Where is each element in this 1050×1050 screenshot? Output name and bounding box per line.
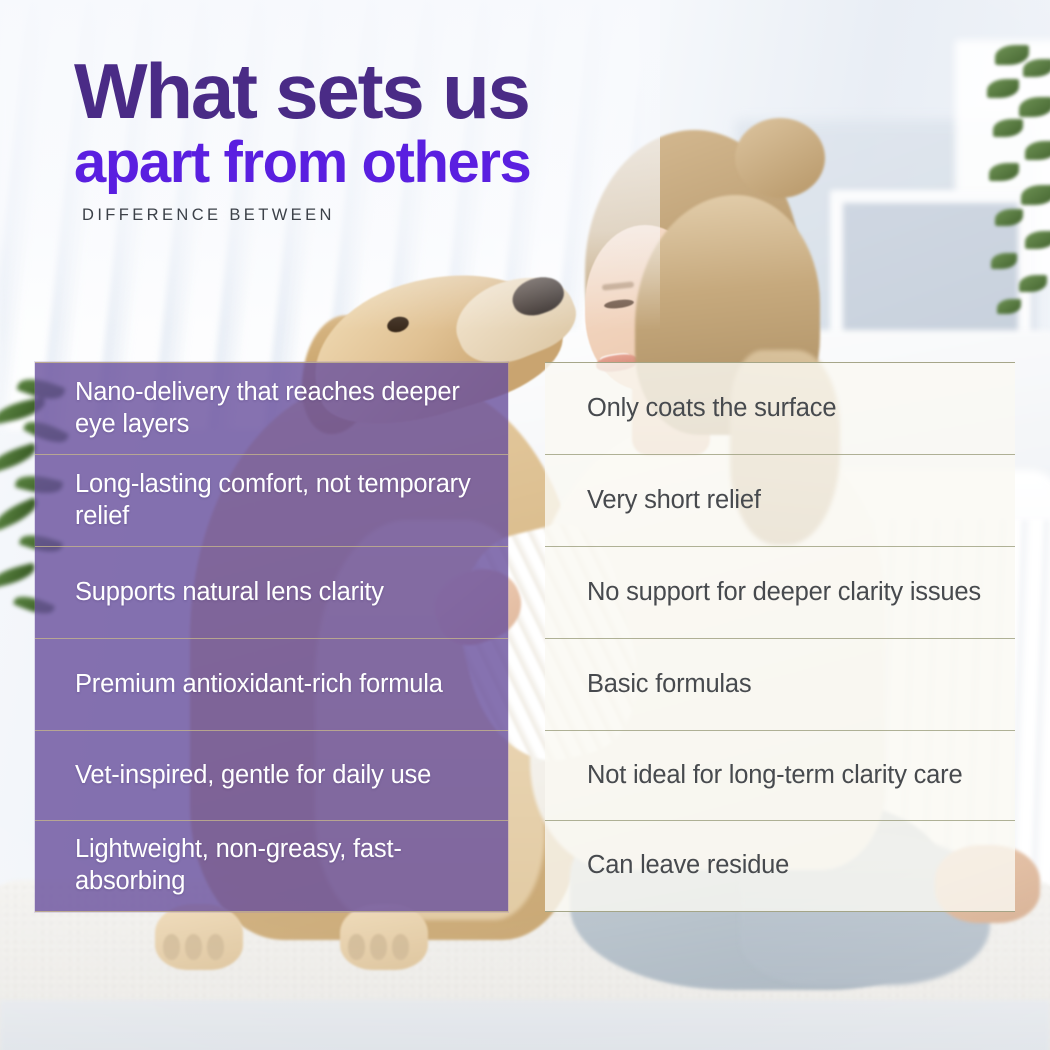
comparison-column-others: Only coats the surface Very short relief… (545, 362, 1015, 912)
table-row: Premium antioxidant-rich formula (35, 639, 508, 731)
table-row: Supports natural lens clarity (35, 547, 508, 639)
comparison-table: Nano-delivery that reaches deeper eye la… (0, 0, 1050, 1050)
table-row: Long-lasting comfort, not temporary reli… (35, 455, 508, 547)
table-row: Not ideal for long-term clarity care (545, 731, 1015, 821)
table-row: Lightweight, non-greasy, fast-absorbing (35, 821, 508, 911)
comparison-column-ours: Nano-delivery that reaches deeper eye la… (35, 362, 508, 912)
poster-canvas: What sets us apart from others DIFFERENC… (0, 0, 1050, 1050)
table-row: No support for deeper clarity issues (545, 547, 1015, 639)
table-row: Basic formulas (545, 639, 1015, 731)
table-row: Can leave residue (545, 821, 1015, 911)
table-row: Very short relief (545, 455, 1015, 547)
table-row: Vet-inspired, gentle for daily use (35, 731, 508, 821)
table-row: Nano-delivery that reaches deeper eye la… (35, 363, 508, 455)
table-row: Only coats the surface (545, 363, 1015, 455)
